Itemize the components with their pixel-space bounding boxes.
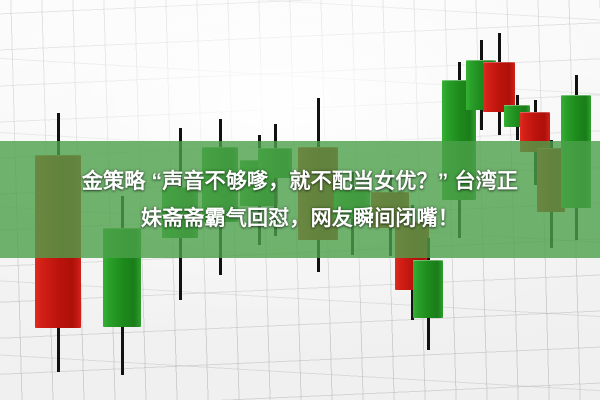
candle-body-up xyxy=(334,190,370,219)
chart-thumbnail: 金策略 “声音不够嗲，就不配当女优？” 台湾正 妹斋斋霸气回怼，网友瞬间闭嘴！ xyxy=(0,0,600,400)
candle-wick xyxy=(274,124,277,236)
candle-body-down xyxy=(35,155,81,328)
candle-body-up xyxy=(103,228,141,327)
candle-body-down xyxy=(298,147,338,240)
candle-body-up xyxy=(162,187,198,238)
candle-body-down xyxy=(520,112,550,152)
candle-body-up xyxy=(258,148,292,178)
candle-body-up xyxy=(202,147,238,222)
candle-body-up xyxy=(561,95,591,208)
candle-body-up xyxy=(413,260,443,318)
candlestick-series xyxy=(0,0,600,400)
